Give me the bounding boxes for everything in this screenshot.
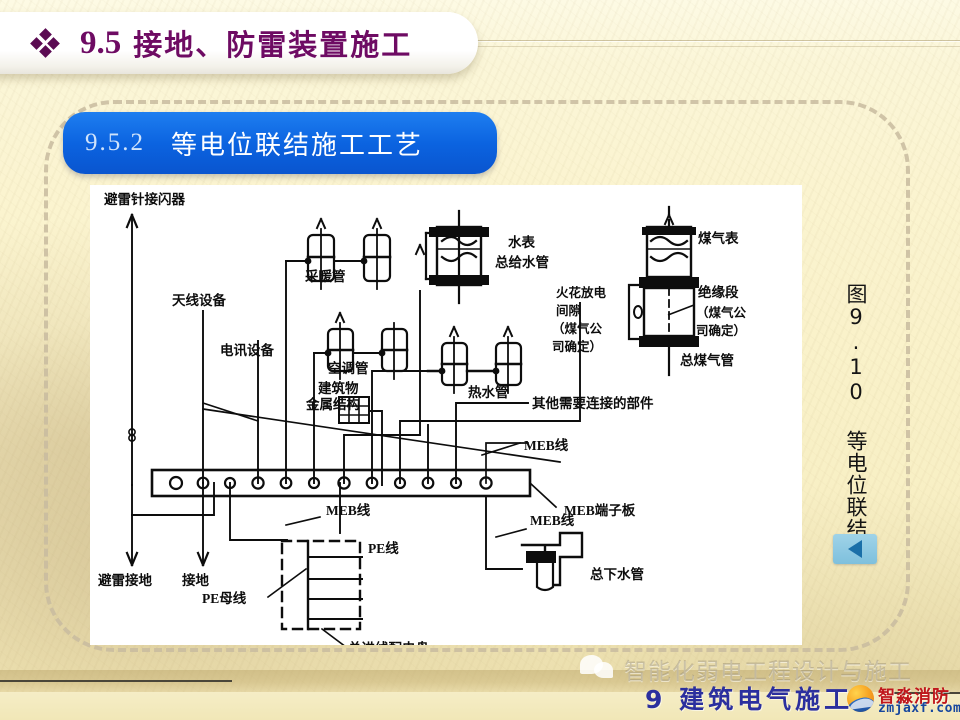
label-meb-line-top: MEB线 <box>524 437 569 453</box>
label-insulation-2: （煤气公 <box>696 305 747 320</box>
gas-meter <box>629 207 699 375</box>
label-gas-meter: 煤气表 <box>698 230 739 247</box>
label-lightning-ground: 避雷接地 <box>98 572 152 589</box>
back-button[interactable] <box>833 534 877 564</box>
chapter-label: 9 建筑电气施工 <box>645 680 853 716</box>
main-drain-pipe <box>522 533 582 590</box>
label-lightning-rod: 避雷针接闪器 <box>104 191 185 208</box>
label-spark-gap-2: 间隙 <box>556 303 582 318</box>
brand-logo: 智淼消防 zmjaxf.com <box>847 682 957 716</box>
label-ground: 接地 <box>182 572 209 589</box>
wechat-icon <box>580 653 618 679</box>
label-ac-pipe: 空调管 <box>328 360 369 377</box>
subsection-title: 等电位联结施工工艺 <box>171 125 423 162</box>
diamond-cluster-icon <box>32 30 58 56</box>
figure-caption: 图9.10 等电位联结线 <box>824 283 868 562</box>
label-spark-gap-3: （煤气公 <box>552 321 603 336</box>
label-spark-gap-4: 司确定） <box>552 339 602 354</box>
label-meb-line-left: MEB线 <box>326 502 371 518</box>
label-insulation-3: 司确定） <box>696 323 746 338</box>
section-number: 9.5 <box>80 25 121 62</box>
label-insulation-1: 绝缘段 <box>698 284 739 301</box>
valve-heating-right <box>364 219 390 289</box>
page-title: 接地、防雷装置施工 <box>133 22 412 64</box>
label-pe-bus: PE母线 <box>202 590 247 606</box>
zhimiao-fire-logo-icon <box>847 685 874 712</box>
footer-rule-left <box>0 680 232 682</box>
label-antenna: 天线设备 <box>172 292 226 309</box>
label-gas-main: 总煤气管 <box>680 352 734 369</box>
logo-url: zmjaxf.com <box>878 701 960 716</box>
label-spark-gap-1: 火花放电 <box>556 285 607 300</box>
water-meter <box>416 211 489 303</box>
label-pe-line: PE线 <box>368 540 399 556</box>
valve-hotwater-right <box>496 327 521 393</box>
slide-header-banner: 9.5 接地、防雷装置施工 <box>0 12 478 74</box>
label-building-metal-1: 建筑物 <box>317 380 359 397</box>
label-building-metal-2: 金属结构 <box>305 396 360 413</box>
label-meb-terminal-board: MEB端子板 <box>564 502 636 518</box>
label-telecom: 电讯设备 <box>220 342 274 359</box>
label-main-drain: 总下水管 <box>590 566 644 583</box>
equipotential-bonding-diagram: 避雷针接闪器 天线设备 电讯设备 采暖管 空调管 建筑物 金属结构 水表 总给水… <box>90 185 802 645</box>
label-water-meter-1: 水表 <box>508 234 536 251</box>
subsection-number: 9.5.2 <box>85 129 145 157</box>
label-other-parts: 其他需要连接的部件 <box>532 395 654 412</box>
diagram-panel: 避雷针接闪器 天线设备 电讯设备 采暖管 空调管 建筑物 金属结构 水表 总给水… <box>90 185 802 645</box>
label-heating-pipe: 采暖管 <box>305 268 346 285</box>
valve-hotwater-left <box>442 327 467 393</box>
slide-background: 9.5 接地、防雷装置施工 9.5.2 等电位联结施工工艺 <box>0 0 960 720</box>
label-water-meter-2: 总给水管 <box>495 254 549 271</box>
label-main-panel: 总进线配电盘 <box>348 640 429 645</box>
label-meb-line-right: MEB线 <box>530 512 575 528</box>
left-triangle-icon <box>848 540 862 558</box>
label-hot-water-pipe: 热水管 <box>468 384 509 401</box>
subsection-pill[interactable]: 9.5.2 等电位联结施工工艺 <box>63 112 497 174</box>
main-distribution-panel <box>268 541 362 645</box>
